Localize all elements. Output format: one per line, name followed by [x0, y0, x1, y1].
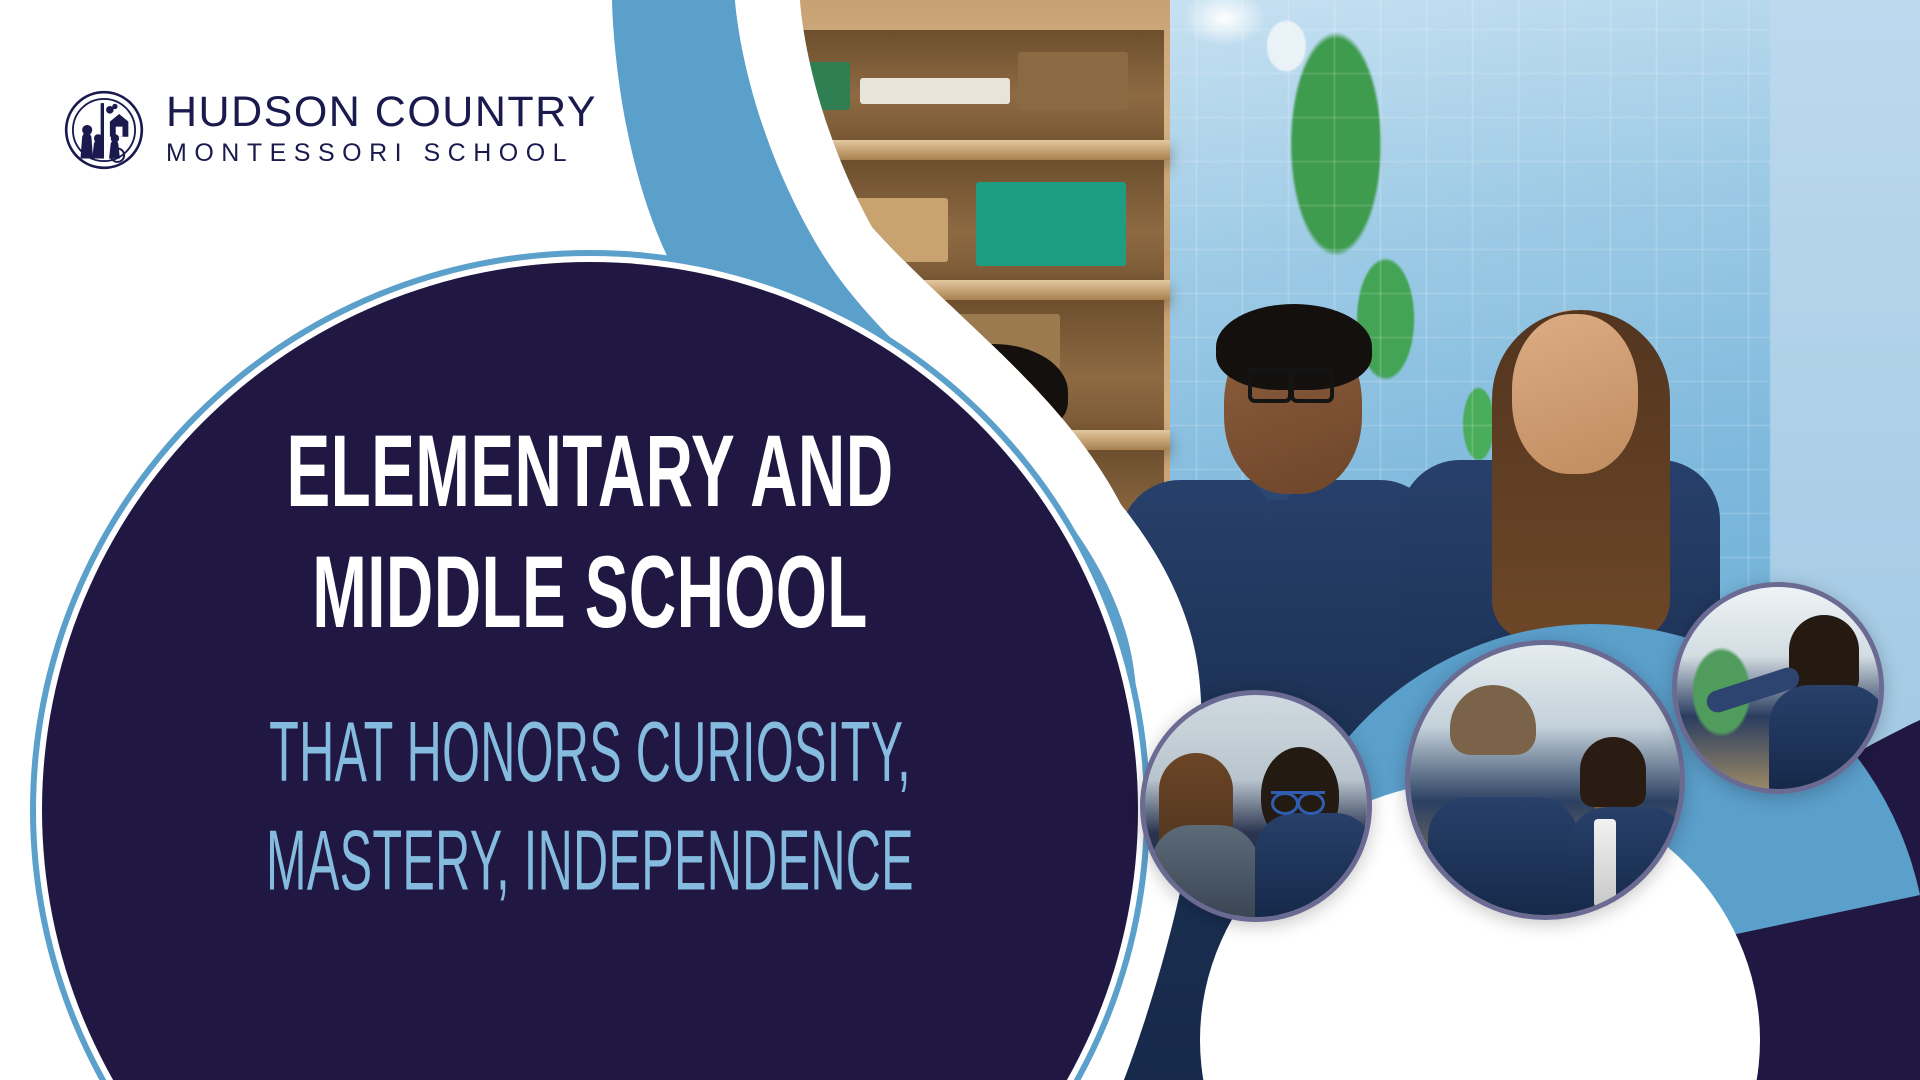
photo-inset-microscope [1405, 640, 1685, 920]
hero-headline-line-1: ELEMENTARY AND [190, 412, 990, 533]
hero-headline: ELEMENTARY AND MIDDLE SCHOOL [190, 412, 990, 654]
hero-subheadline-line-1: THAT HONORS CURIOSITY, [172, 698, 1008, 806]
hero-subheadline: THAT HONORS CURIOSITY, MASTERY, INDEPEND… [172, 698, 1008, 914]
blue-eyeglasses-icon [1271, 791, 1325, 809]
eyeglasses-icon [1248, 368, 1334, 394]
school-crest-icon [62, 88, 146, 172]
photo-inset-robotics [1140, 690, 1372, 922]
hero-headline-line-2: MIDDLE SCHOOL [190, 533, 990, 654]
school-logo[interactable]: HUDSON COUNTRY MONTESSORI SCHOOL [62, 88, 597, 172]
photo-inset-art [1672, 582, 1884, 794]
logo-secondary-text: MONTESSORI SCHOOL [166, 138, 597, 169]
hero-banner: ELEMENTARY AND MIDDLE SCHOOL THAT HONORS… [0, 0, 1920, 1080]
hero-subheadline-line-2: MASTERY, INDEPENDENCE [172, 806, 1008, 914]
microscope-icon [1594, 819, 1616, 907]
logo-primary-text: HUDSON COUNTRY [166, 91, 597, 135]
